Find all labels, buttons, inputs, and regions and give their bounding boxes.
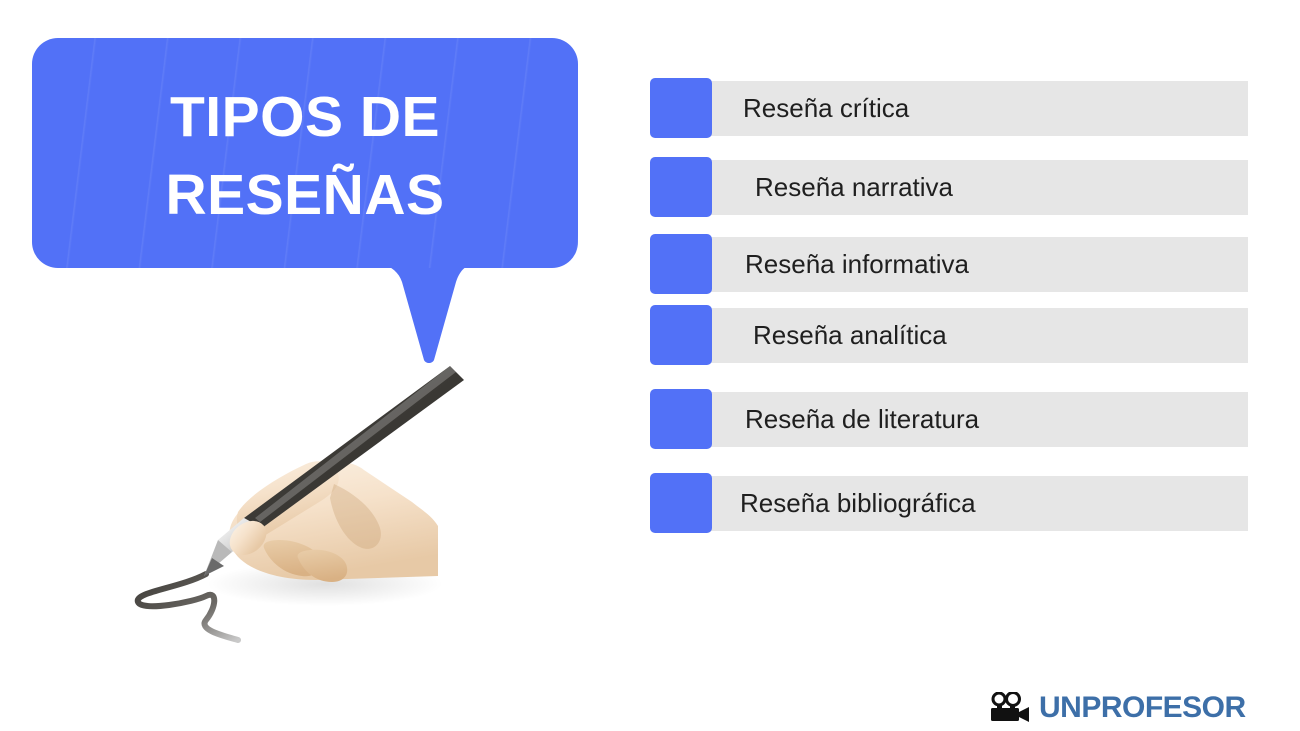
infographic-slide: TIPOS DE RESEÑAS xyxy=(0,0,1300,731)
speech-bubble-tail xyxy=(362,252,482,364)
list-item-marker xyxy=(650,473,712,533)
review-types-list: Reseña crítica Reseña narrativa Reseña i… xyxy=(650,78,1248,533)
brand-logo: UNPROFESOR xyxy=(988,690,1193,726)
list-item-label: Reseña analítica xyxy=(753,305,947,365)
page-title: TIPOS DE RESEÑAS xyxy=(32,78,578,234)
hand-writing-illustration xyxy=(120,352,482,652)
list-item-label: Reseña informativa xyxy=(745,234,969,294)
list-item[interactable]: Reseña bibliográfica xyxy=(650,473,1248,533)
list-item-marker xyxy=(650,234,712,294)
list-item-marker xyxy=(650,305,712,365)
list-item-marker xyxy=(650,389,712,449)
movie-camera-icon xyxy=(988,692,1032,724)
list-item-label: Reseña crítica xyxy=(743,78,909,138)
list-item[interactable]: Reseña informativa xyxy=(650,234,1248,294)
page-title-line-2: RESEÑAS xyxy=(32,156,578,234)
list-item-marker xyxy=(650,78,712,138)
page-title-line-1: TIPOS DE xyxy=(170,85,440,149)
list-item-label: Reseña narrativa xyxy=(755,157,953,217)
list-item-label: Reseña de literatura xyxy=(745,389,979,449)
list-item[interactable]: Reseña narrativa xyxy=(650,157,1248,217)
list-item-label: Reseña bibliográfica xyxy=(740,473,976,533)
list-item[interactable]: Reseña analítica xyxy=(650,305,1248,365)
list-item-marker xyxy=(650,157,712,217)
list-item[interactable]: Reseña crítica xyxy=(650,78,1248,138)
brand-name: UNPROFESOR xyxy=(1039,692,1246,724)
title-speech-bubble: TIPOS DE RESEÑAS xyxy=(32,38,578,340)
list-item[interactable]: Reseña de literatura xyxy=(650,389,1248,449)
